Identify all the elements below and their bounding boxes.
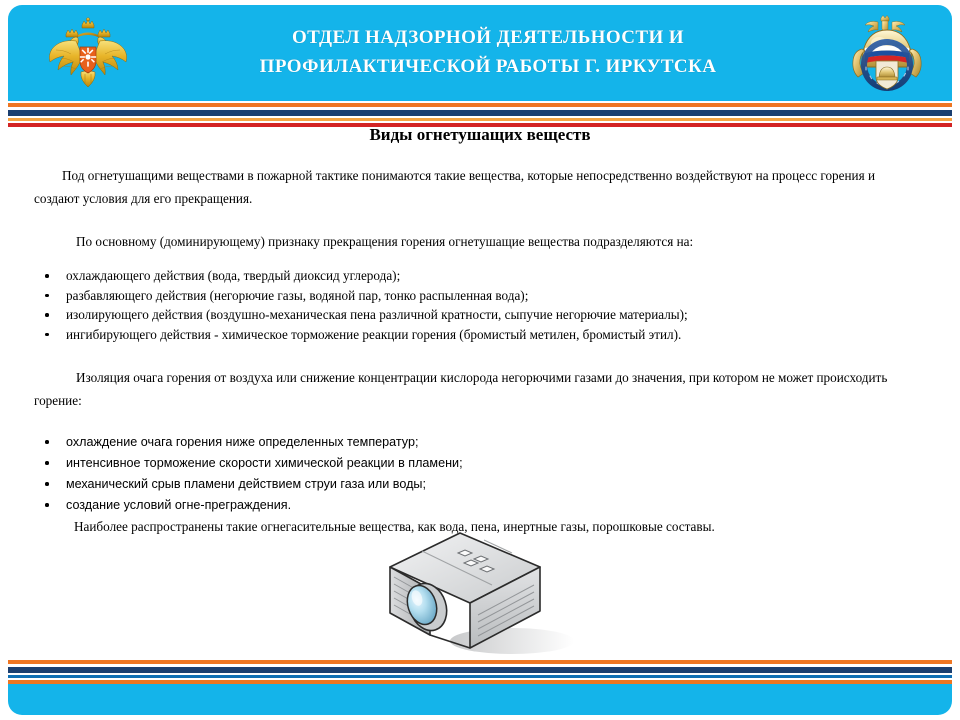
bottom-stripe-band <box>8 660 952 684</box>
list-item: изолирующего действия (воздушно-механиче… <box>34 305 920 325</box>
paragraph-1: Под огнетушащими веществами в пожарной т… <box>34 164 920 210</box>
list-item: разбавляющего действия (негорючие газы, … <box>34 286 920 306</box>
bullet-dot-icon <box>45 482 49 486</box>
list-item-label: ингибирующего действия - химическое торм… <box>66 327 681 342</box>
list-item-label: механический срыв пламени действием стру… <box>66 477 426 491</box>
footer-band <box>8 684 952 715</box>
bullet-dot-icon <box>45 274 49 278</box>
paragraph-2: По основному (доминирующему) признаку пр… <box>34 230 920 253</box>
spacer <box>0 344 960 366</box>
top-stripe-band <box>8 97 952 127</box>
list-item-label: создание условий огне-преграждения. <box>66 498 291 512</box>
list-item-label: охлаждение очага горения ниже определенн… <box>66 435 418 449</box>
bullet-dot-icon <box>45 333 49 337</box>
header-band: ОТДЕЛ НАДЗОРНОЙ ДЕЯТЕЛЬНОСТИ И ПРОФИЛАКТ… <box>8 5 952 97</box>
paragraph-3: Изоляция очага горения от воздуха или сн… <box>34 366 920 412</box>
bullet-dot-icon <box>45 461 49 465</box>
list-combustion-prevention-conditions: охлаждение очага горения ниже определенн… <box>34 432 920 516</box>
spacer <box>0 210 960 230</box>
bullet-dot-icon <box>45 313 49 317</box>
list-item: ингибирующего действия - химическое торм… <box>34 325 920 345</box>
spacer <box>0 412 960 432</box>
page-title: Виды огнетушащих веществ <box>0 124 960 146</box>
header-title-line-2: ПРОФИЛАКТИЧЕСКОЙ РАБОТЫ Г. ИРКУТСКА <box>260 56 717 78</box>
header-title: ОТДЕЛ НАДЗОРНОЙ ДЕЯТЕЛЬНОСТИ И ПРОФИЛАКТ… <box>158 10 818 94</box>
list-item: охлаждающего действия (вода, твердый дио… <box>34 266 920 286</box>
bullet-dot-icon <box>45 294 49 298</box>
list-extinguishing-action-types: охлаждающего действия (вода, твердый дио… <box>34 266 920 344</box>
list-item-label: изолирующего действия (воздушно-механиче… <box>66 307 688 322</box>
list-item: механический срыв пламени действием стру… <box>34 474 920 495</box>
list-item: охлаждение очага горения ниже определенн… <box>34 432 920 453</box>
list-item-label: разбавляющего действия (негорючие газы, … <box>66 288 528 303</box>
slide-root: ОТДЕЛ НАДЗОРНОЙ ДЕЯТЕЛЬНОСТИ И ПРОФИЛАКТ… <box>0 0 960 720</box>
projector-illustration <box>362 531 602 659</box>
list-item: интенсивное торможение скорости химическ… <box>34 453 920 474</box>
list-item-label: интенсивное торможение скорости химическ… <box>66 456 463 470</box>
bullet-dot-icon <box>45 503 49 507</box>
spacer <box>0 253 960 266</box>
bullet-dot-icon <box>45 440 49 444</box>
list-item: создание условий огне-преграждения. <box>34 495 920 516</box>
header-title-line-1: ОТДЕЛ НАДЗОРНОЙ ДЕЯТЕЛЬНОСТИ И <box>292 27 684 49</box>
fire-helmet-badge-emblem <box>848 15 926 95</box>
list-item-label: охлаждающего действия (вода, твердый дио… <box>66 268 400 283</box>
mchs-double-headed-eagle-emblem <box>40 17 136 91</box>
